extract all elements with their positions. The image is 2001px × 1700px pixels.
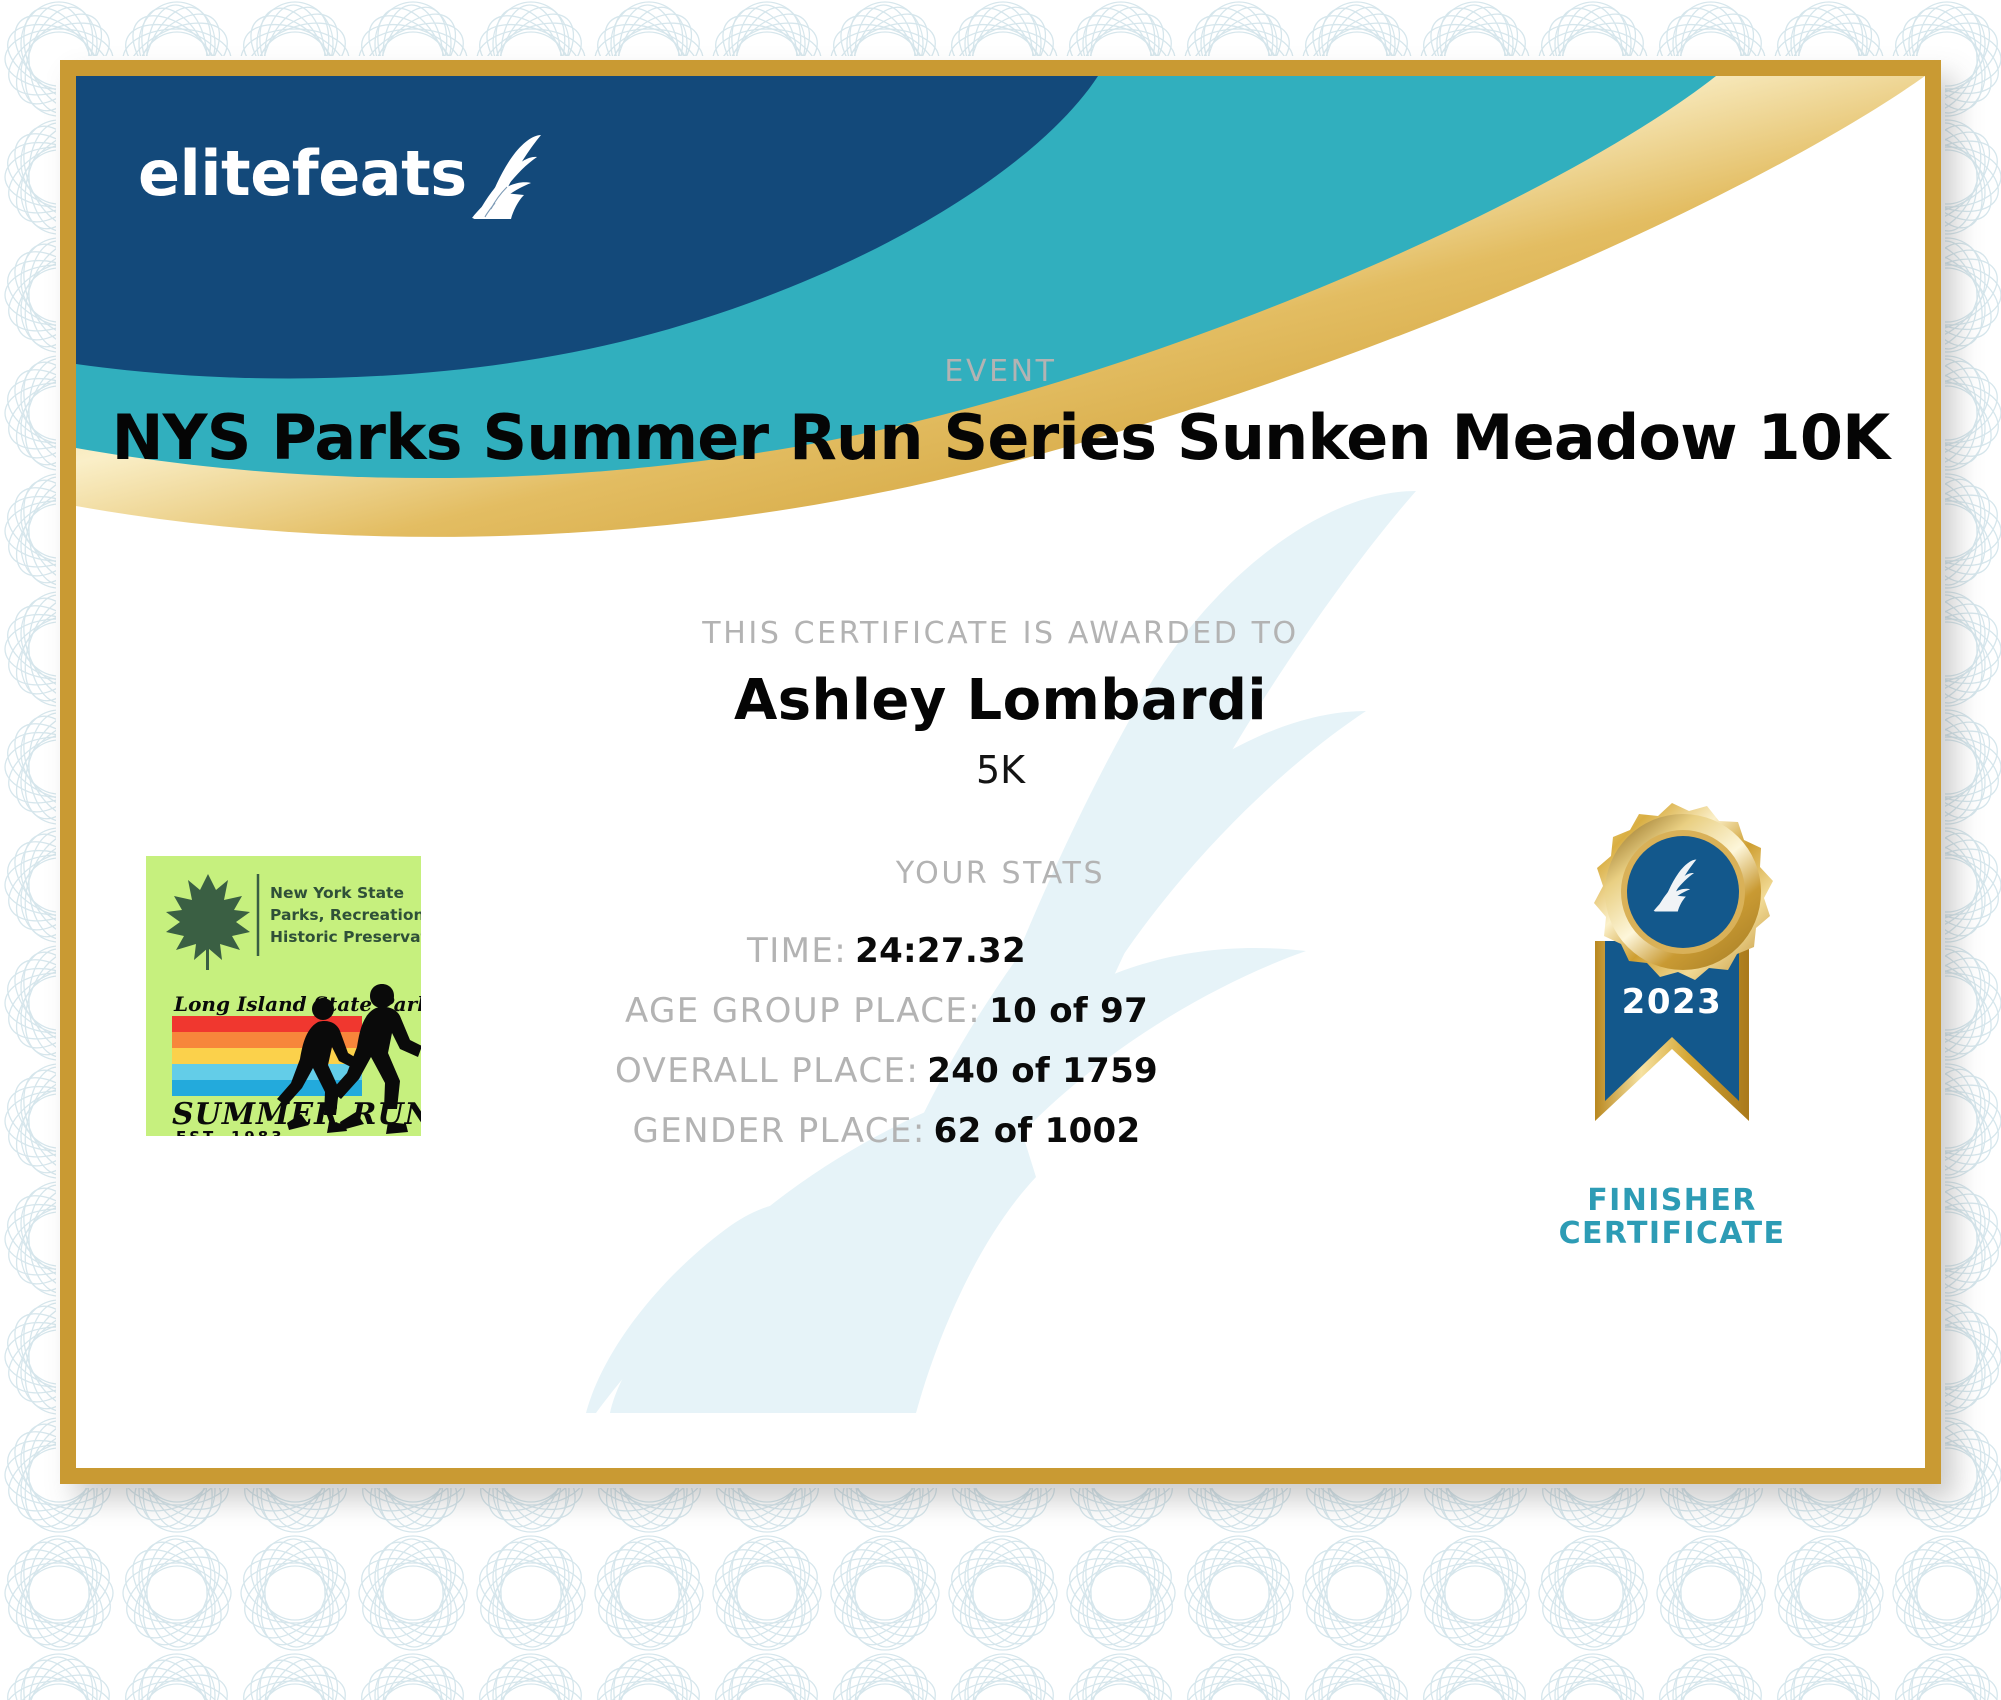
stat-label: AGE GROUP PLACE: bbox=[625, 991, 981, 1031]
parks-org-line3: Historic Preservation bbox=[270, 928, 421, 946]
badge-caption-line1: FINISHER bbox=[1517, 1184, 1827, 1218]
stat-value: 240 of 1759 bbox=[927, 1051, 1158, 1091]
badge-year: 2023 bbox=[1622, 982, 1723, 1022]
stat-value: 62 of 1002 bbox=[934, 1111, 1141, 1151]
stat-value: 10 of 97 bbox=[989, 991, 1148, 1031]
medal-ribbon-graphic: 2023 bbox=[1517, 791, 1827, 1191]
event-label: EVENT bbox=[76, 354, 1925, 389]
stat-label: GENDER PLACE: bbox=[633, 1111, 926, 1151]
certificate-body: elitefeats EVENT NYS bbox=[76, 76, 1925, 1468]
recipient-name: Ashley Lombardi bbox=[76, 668, 1925, 733]
race-distance: 5K bbox=[76, 748, 1925, 792]
awarded-to-label: THIS CERTIFICATE IS AWARDED TO bbox=[76, 616, 1925, 651]
elitefeats-logo: elitefeats bbox=[138, 131, 563, 205]
established-text: EST. 1983 bbox=[176, 1128, 285, 1136]
finisher-badge: 2023 bbox=[1517, 791, 1827, 1251]
parks-org-line1: New York State bbox=[270, 884, 404, 902]
gold-frame-border: elitefeats EVENT NYS bbox=[60, 60, 1941, 1484]
event-title: NYS Parks Summer Run Series Sunken Meado… bbox=[76, 401, 1925, 474]
certificate-content: EVENT NYS Parks Summer Run Series Sunken… bbox=[76, 76, 1925, 1468]
nys-parks-summer-run-logo: New York State Parks, Recreation and His… bbox=[146, 856, 421, 1136]
badge-caption: FINISHER CERTIFICATE bbox=[1517, 1184, 1827, 1251]
certificate-page: elitefeats EVENT NYS bbox=[0, 0, 2001, 1700]
parks-org-line2: Parks, Recreation and bbox=[270, 906, 421, 924]
winged-foot-icon bbox=[471, 131, 563, 219]
parks-logo-art: New York State Parks, Recreation and His… bbox=[146, 856, 421, 1136]
stat-label: TIME: bbox=[747, 931, 847, 971]
stat-value: 24:27.32 bbox=[855, 931, 1026, 971]
badge-caption-line2: CERTIFICATE bbox=[1517, 1217, 1827, 1251]
brand-wordmark: elitefeats bbox=[138, 143, 467, 205]
stat-label: OVERALL PLACE: bbox=[615, 1051, 919, 1091]
